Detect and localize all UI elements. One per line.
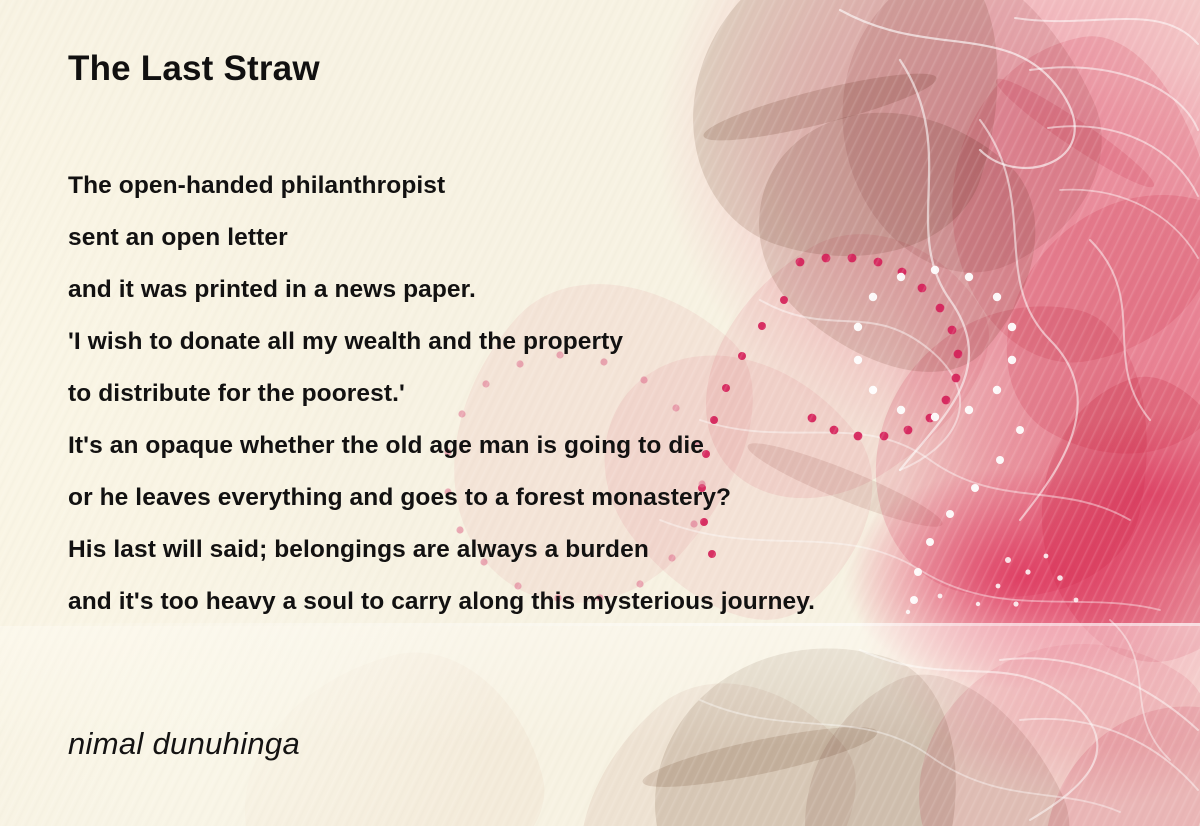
poem-body: The open-handed philanthropist sent an o… xyxy=(68,160,1128,628)
poem-line: to distribute for the poorest.' xyxy=(68,368,1128,420)
poem-line: His last will said; belongings are alway… xyxy=(68,524,1128,576)
poem-card: The Last Straw The open-handed philanthr… xyxy=(0,0,1200,826)
poem-title: The Last Straw xyxy=(68,49,320,89)
poem-line: sent an open letter xyxy=(68,212,1128,264)
poem-author: nimal dunuhinga xyxy=(68,726,300,762)
poem-content: The Last Straw The open-handed philanthr… xyxy=(0,0,1200,826)
poem-line: or he leaves everything and goes to a fo… xyxy=(68,472,1128,524)
poem-line: 'I wish to donate all my wealth and the … xyxy=(68,316,1128,368)
poem-line: It's an opaque whether the old age man i… xyxy=(68,420,1128,472)
poem-line: and it's too heavy a soul to carry along… xyxy=(68,576,1128,628)
poem-line: and it was printed in a news paper. xyxy=(68,264,1128,316)
poem-line: The open-handed philanthropist xyxy=(68,160,1128,212)
